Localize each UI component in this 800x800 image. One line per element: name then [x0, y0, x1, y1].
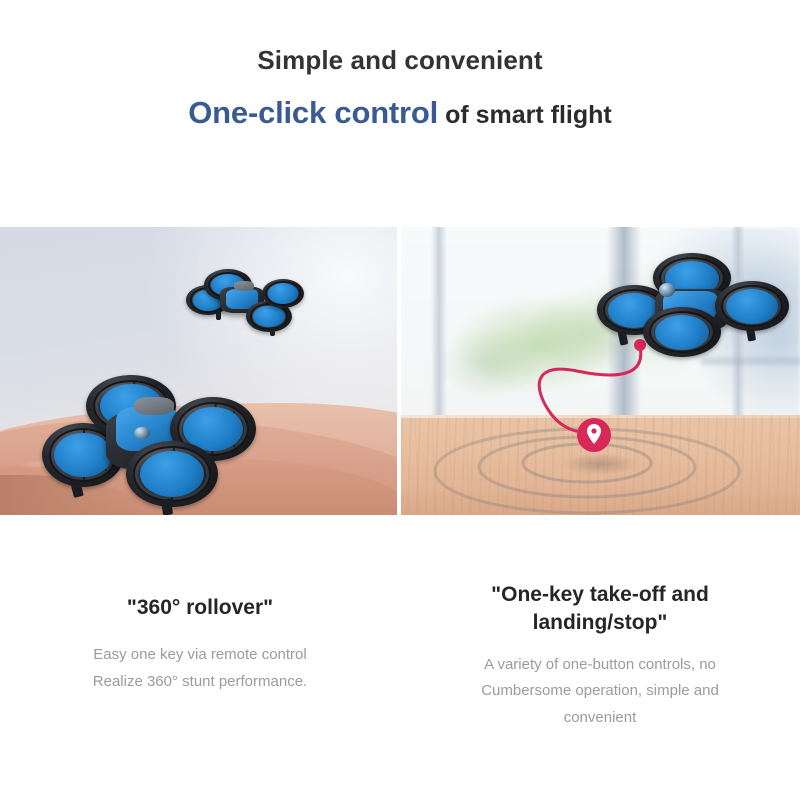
image-gallery: [0, 227, 800, 515]
header: Simple and convenient One-click controlo…: [0, 0, 800, 130]
feature-description-line: A variety of one-button controls, no: [404, 652, 796, 679]
feature-title: "360° rollover": [25, 560, 375, 622]
drone-small-upper: [186, 267, 304, 339]
product-feature-page: Simple and convenient One-click controlo…: [0, 0, 800, 800]
feature-description-line: Easy one key via remote control: [25, 642, 375, 669]
page-title: Simple and convenient: [0, 46, 800, 75]
drone-leg: [216, 311, 221, 320]
drone-camera-lens: [659, 283, 675, 297]
feature-description-line: Realize 360° stunt performance.: [25, 669, 375, 696]
drone-leg: [270, 327, 275, 336]
feature-title-line: landing/stop": [404, 609, 796, 637]
feature-title-line: "One-key take-off and: [404, 581, 796, 609]
drone-indoor: [597, 249, 789, 359]
gallery-image-rollover: [0, 227, 397, 515]
drone-leg: [161, 498, 173, 515]
subtitle-rest: of smart flight: [445, 101, 612, 129]
feature-captions: "360° rollover" Easy one key via remote …: [0, 560, 800, 800]
prop-guard: [643, 307, 721, 357]
prop-guard: [126, 441, 218, 507]
feature-description-line: Cumbersome operation, simple and: [404, 678, 796, 705]
feature-description: A variety of one-button controls, no Cum…: [404, 652, 796, 732]
drone-top-cap: [234, 281, 254, 291]
drone-large-lower: [42, 369, 256, 509]
prop-guard: [715, 281, 789, 331]
subtitle: One-click controlof smart flight: [0, 96, 800, 130]
feature-description: Easy one key via remote control Realize …: [25, 642, 375, 695]
subtitle-accent: One-click control: [188, 95, 438, 130]
drone-camera-lens: [134, 427, 150, 439]
feature-rollover: "360° rollover" Easy one key via remote …: [25, 560, 375, 696]
location-pin-marker: [577, 418, 611, 452]
gallery-image-takeoff-landing: [401, 227, 800, 515]
feature-takeoff-landing: "One-key take-off and landing/stop" A va…: [404, 560, 796, 732]
feature-description-line: convenient: [404, 705, 796, 732]
feature-title: "One-key take-off and landing/stop": [404, 560, 796, 638]
drone-top-cap: [134, 397, 174, 415]
prop-guard: [262, 279, 304, 308]
